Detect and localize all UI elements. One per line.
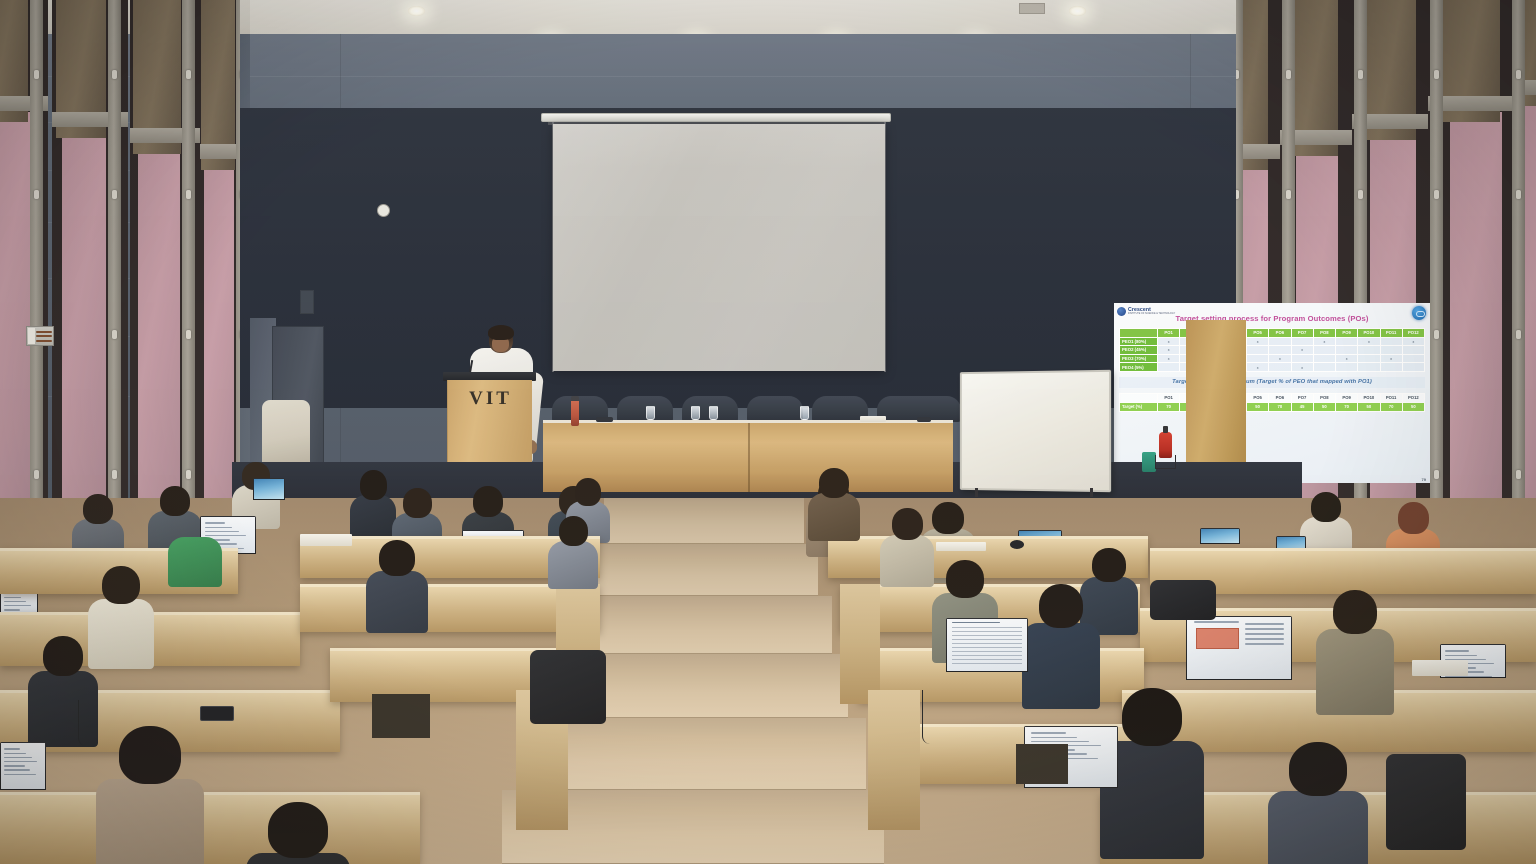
attendee-head xyxy=(403,488,432,518)
panel-fastener xyxy=(1434,470,1439,479)
screen-text-line xyxy=(4,601,27,603)
po-column-header: PO5 xyxy=(1247,329,1269,338)
attendee-head xyxy=(1039,584,1083,628)
whiteboard xyxy=(960,370,1111,492)
attendee-head xyxy=(892,508,923,540)
mapping-cell-marked xyxy=(1291,346,1313,355)
mapping-cell-empty xyxy=(1269,346,1291,355)
target-column-header: PO5 xyxy=(1247,393,1269,402)
screen-text-line xyxy=(1245,643,1284,645)
laptop-screen[interactable] xyxy=(947,619,1026,670)
attendee xyxy=(366,540,428,638)
target-column-header: PO11 xyxy=(1380,393,1402,402)
attendee-head xyxy=(268,802,328,858)
target-column-header: PO9 xyxy=(1336,393,1358,402)
target-row-label: Target (%) xyxy=(1120,402,1158,411)
mapping-cell-empty xyxy=(1247,354,1269,363)
thermos-flask xyxy=(571,399,579,426)
panel-fastener xyxy=(1434,70,1439,79)
target-value-cell: 70 xyxy=(1380,402,1402,411)
projector-screen-housing xyxy=(541,113,891,122)
peo-row: PEO2 (45%) xyxy=(1120,346,1425,355)
attendee-head xyxy=(1092,548,1126,582)
peo-row-label: PEO4 (5%) xyxy=(1120,363,1158,372)
po-column-header: PO12 xyxy=(1402,329,1424,338)
notebook xyxy=(300,534,352,546)
crescent-logo: Crescent INSTITUTE OF SCIENCE & TECHNOLO… xyxy=(1117,305,1169,318)
mapping-cell-empty xyxy=(1313,363,1335,372)
mapping-cell-empty xyxy=(1336,363,1358,372)
laptop-screen[interactable] xyxy=(1187,617,1290,678)
screen-title-line xyxy=(1194,621,1239,623)
mapping-cell-empty xyxy=(1380,363,1402,372)
target-corner-cell xyxy=(1120,393,1158,402)
screen-text-line xyxy=(4,609,21,611)
target-value-cell: 70 xyxy=(1336,402,1358,411)
mapping-cell-empty xyxy=(1402,363,1424,372)
slide-page-number: 79 xyxy=(1422,477,1426,482)
po-column-header: PO9 xyxy=(1336,329,1358,338)
panel-fastener xyxy=(112,70,117,79)
mapping-cell-empty xyxy=(1336,346,1358,355)
attendee-head xyxy=(43,636,83,676)
attendee-head xyxy=(1122,688,1182,746)
screen-text-line xyxy=(4,769,30,771)
panel-fastener xyxy=(1516,70,1521,79)
acoustic-panel-bay xyxy=(0,0,48,560)
thermos-cap xyxy=(571,396,579,401)
stage-chair xyxy=(617,396,673,422)
mapping-cell-marked xyxy=(1380,354,1402,363)
attendee-head xyxy=(819,468,849,498)
peo-row-label: PEO2 (45%) xyxy=(1120,346,1158,355)
wall-vent xyxy=(300,290,314,314)
panel-fastener xyxy=(112,330,117,339)
target-column-header: PO12 xyxy=(1402,393,1424,402)
target-value-cell: 50 xyxy=(1402,402,1424,411)
attendee-head xyxy=(83,494,113,524)
panel-fastener xyxy=(34,470,39,479)
panel-fastener xyxy=(34,70,39,79)
desk-shadow xyxy=(1016,744,1068,784)
attendee-head xyxy=(1289,742,1347,796)
screen-text-line xyxy=(4,605,31,607)
mapping-cell-marked xyxy=(1247,337,1269,346)
water-glass xyxy=(646,406,655,420)
screen-text-line xyxy=(4,765,25,767)
panel-fastener xyxy=(186,190,191,199)
attendee-torso xyxy=(548,541,598,589)
mapping-cell-empty xyxy=(1158,363,1180,372)
extinguisher-handle xyxy=(1163,426,1168,433)
attendee-head xyxy=(1311,492,1341,522)
po-column-header: PO8 xyxy=(1313,329,1335,338)
mapping-cell-marked xyxy=(1336,354,1358,363)
handbag xyxy=(1386,754,1466,850)
screen-text-line xyxy=(4,753,26,755)
peo-row: PEO4 (5%) xyxy=(1120,363,1425,372)
aisle-step xyxy=(604,498,804,544)
panel-fastener xyxy=(34,190,39,199)
attendee-torso xyxy=(1022,623,1100,709)
screen-highlight-box xyxy=(1196,628,1239,649)
peo-row-label: PEO3 (70%) xyxy=(1120,354,1158,363)
mapping-cell-marked xyxy=(1158,354,1180,363)
peo-row: PEO3 (70%) xyxy=(1120,354,1425,363)
target-value-cell: 50 xyxy=(1313,402,1335,411)
po-column-header: PO1 xyxy=(1158,329,1180,338)
panel-fastener xyxy=(1286,190,1291,199)
attendee-head xyxy=(180,510,211,542)
mapping-cell-marked xyxy=(1313,337,1335,346)
mapping-cell-marked xyxy=(1269,354,1291,363)
attendee-head xyxy=(946,560,984,598)
aisle-step xyxy=(532,718,866,790)
target-column-header: PO10 xyxy=(1358,393,1380,402)
attendee-head xyxy=(932,502,964,534)
target-column-header: PO1 xyxy=(1158,393,1180,402)
screen-text-line xyxy=(4,761,37,763)
mapping-cell-empty xyxy=(1358,354,1380,363)
mapping-cell-marked xyxy=(1402,337,1424,346)
panel-fastener xyxy=(112,470,117,479)
stage-chair xyxy=(747,396,803,422)
mapping-cell-empty xyxy=(1269,363,1291,372)
mapping-cell-empty xyxy=(1313,354,1335,363)
target-percentage-table: PO1PO2PO3PO4PO5PO6PO7PO8PO9PO10PO11PO12 … xyxy=(1119,393,1425,412)
attendee xyxy=(880,508,934,592)
screen-text-line xyxy=(4,748,20,750)
attendee-torso xyxy=(350,495,396,541)
lecture-hall-photo: Crescent INSTITUTE OF SCIENCE & TECHNOLO… xyxy=(0,0,1536,864)
screen-title-line xyxy=(952,622,1000,624)
mapping-cell-empty xyxy=(1336,337,1358,346)
mapping-cell-empty xyxy=(1380,346,1402,355)
attendee xyxy=(1268,742,1368,864)
mapping-cell-marked xyxy=(1291,363,1313,372)
attendee xyxy=(350,470,396,546)
attendee-head xyxy=(119,726,181,784)
screen-text-line xyxy=(1031,741,1089,743)
panel-fastener xyxy=(1236,70,1239,79)
laptop-screen[interactable] xyxy=(1,743,44,788)
screen-table-grid xyxy=(952,627,1022,667)
sign-pictogram xyxy=(28,328,35,344)
target-column-header: PO6 xyxy=(1269,393,1291,402)
po-column-header: PO10 xyxy=(1358,329,1380,338)
acoustic-panel-bay xyxy=(1512,0,1536,560)
attendee-head xyxy=(575,478,601,506)
attendee-torso xyxy=(1316,629,1394,715)
panel-fastener xyxy=(1434,190,1439,199)
laptop xyxy=(1200,528,1240,544)
projection-screen: Crescent INSTITUTE OF SCIENCE & TECHNOLO… xyxy=(553,124,885,371)
green-bin xyxy=(1142,452,1156,472)
attendee-head xyxy=(473,486,503,517)
laptop-screen[interactable] xyxy=(254,479,283,498)
ceiling-vent xyxy=(1019,3,1045,14)
screen-text-line xyxy=(1031,732,1066,734)
target-value-cell: 45 xyxy=(1291,402,1313,411)
peo-row: PEO1 (80%) xyxy=(1120,337,1425,346)
panel-fastener xyxy=(1286,70,1291,79)
po-column-header: PO7 xyxy=(1291,329,1313,338)
logo-subtitle: INSTITUTE OF SCIENCE & TECHNOLOGY xyxy=(1128,313,1175,316)
podium: VIT xyxy=(447,380,532,462)
presenter-hair xyxy=(488,325,514,340)
mapping-cell-marked xyxy=(1158,346,1180,355)
screen-text-line xyxy=(4,597,22,599)
attendee-head xyxy=(102,566,140,604)
ceiling-light xyxy=(408,6,425,16)
desk-end-panel xyxy=(868,690,920,830)
attendee xyxy=(96,726,204,864)
mapping-cell-empty xyxy=(1380,337,1402,346)
panel-fastener xyxy=(186,470,191,479)
laptop-cable xyxy=(922,690,940,744)
panel-fastener xyxy=(1516,470,1521,479)
table-object xyxy=(917,417,931,422)
wall-clock xyxy=(377,204,390,217)
acoustic-panel-bay xyxy=(130,0,202,560)
attendee-torso xyxy=(168,537,222,587)
notebook xyxy=(1412,660,1468,676)
acoustic-panel-bay xyxy=(1428,0,1514,560)
target-value-cell: 70 xyxy=(1158,402,1180,411)
attendee-torso xyxy=(96,779,204,864)
mapping-cell-empty xyxy=(1291,354,1313,363)
acoustic-panel-bay xyxy=(52,0,128,560)
panel-fastener xyxy=(1236,190,1239,199)
mapping-cell-marked xyxy=(1158,337,1180,346)
panel-fastener xyxy=(112,190,117,199)
mapping-cell-empty xyxy=(1291,337,1313,346)
attendee-head xyxy=(559,516,588,546)
screen-text-line xyxy=(1031,737,1078,739)
ceiling-light xyxy=(1069,6,1086,16)
target-value-cell: 50 xyxy=(1247,402,1269,411)
acoustic-wall-left xyxy=(0,0,240,560)
screen-text-line xyxy=(1245,623,1284,625)
screen-text-line xyxy=(1245,633,1284,635)
panel-fastener xyxy=(1434,330,1439,339)
mapping-cell-empty xyxy=(1269,337,1291,346)
laptop-cable xyxy=(78,700,94,746)
panel-fastener xyxy=(1358,190,1363,199)
attendee-torso xyxy=(1268,791,1368,864)
water-glass xyxy=(709,406,718,420)
acoustic-panel-pink xyxy=(1524,96,1536,560)
mapping-cell-marked xyxy=(1358,337,1380,346)
laptop xyxy=(1186,616,1292,680)
screen-text-line xyxy=(1445,655,1477,657)
mapping-cell-empty xyxy=(1358,346,1380,355)
mapping-cell-empty xyxy=(1313,346,1335,355)
aisle-step xyxy=(592,544,818,596)
panel-cross-band xyxy=(200,144,240,159)
screen-text-line xyxy=(4,774,36,776)
attendee xyxy=(548,516,598,594)
attendee xyxy=(1022,584,1100,714)
po-column-header: PO11 xyxy=(1380,329,1402,338)
nba-seal-icon xyxy=(1412,306,1426,320)
desk-shadow xyxy=(372,694,430,738)
desk-row xyxy=(0,792,420,864)
screen-text-line xyxy=(1445,650,1469,652)
attendee xyxy=(808,468,860,546)
screen-text-line xyxy=(1245,638,1284,640)
mapping-cell-marked xyxy=(1247,363,1269,372)
backpack xyxy=(530,650,606,724)
attendee-torso xyxy=(880,535,934,587)
screen-text-line xyxy=(1245,628,1284,630)
attendee xyxy=(246,802,350,864)
table-papers xyxy=(860,416,886,422)
attendee-head xyxy=(360,470,387,500)
laptop xyxy=(253,478,285,500)
po-column-header: PO6 xyxy=(1269,329,1291,338)
panel-fastener xyxy=(186,70,191,79)
mapping-cell-empty xyxy=(1402,354,1424,363)
panel-fastener xyxy=(1516,190,1521,199)
laptop xyxy=(946,618,1028,672)
water-glass xyxy=(691,406,700,420)
target-value-cell: 50 xyxy=(1358,402,1380,411)
target-rule-text: Target % for PO1 = Maximum (Target % of … xyxy=(1119,377,1425,388)
water-glass xyxy=(800,406,809,420)
aisle-step xyxy=(576,596,832,654)
target-column-header: PO7 xyxy=(1291,393,1313,402)
laptop xyxy=(0,742,46,790)
mapping-cell-empty xyxy=(1247,346,1269,355)
attendee xyxy=(168,510,222,592)
laptop-screen[interactable] xyxy=(1201,529,1238,542)
panel-fastener xyxy=(1516,330,1521,339)
table-object xyxy=(596,417,613,422)
peo-po-mapping-table: PO1PO2PO3PO4PO5PO6PO7PO8PO9PO10PO11PO12 … xyxy=(1119,328,1425,372)
acoustic-panel-pink xyxy=(1450,112,1502,560)
mapping-cell-empty xyxy=(1402,346,1424,355)
desk-end-panel xyxy=(840,584,880,704)
attendee-head xyxy=(379,540,415,576)
mapping-corner-cell xyxy=(1120,329,1158,338)
podium-brand-label: VIT xyxy=(448,388,533,410)
attendee-torso xyxy=(808,493,860,541)
crescent-emblem-icon xyxy=(1117,307,1126,316)
notebook xyxy=(936,542,986,551)
attendee-head xyxy=(1398,502,1429,534)
mouse[interactable] xyxy=(1010,540,1024,549)
target-column-header: PO8 xyxy=(1313,393,1335,402)
handbag xyxy=(1150,580,1216,620)
screen-text-line xyxy=(4,757,32,759)
mapping-cell-empty xyxy=(1358,363,1380,372)
stage-chair xyxy=(905,396,961,422)
attendee-head xyxy=(1333,590,1377,634)
mobile-phone[interactable] xyxy=(200,706,234,721)
peo-row-label: PEO1 (80%) xyxy=(1120,337,1158,346)
panel-fastener xyxy=(186,330,191,339)
target-value-cell: 70 xyxy=(1269,402,1291,411)
attendee xyxy=(1316,590,1394,720)
safety-sign-left xyxy=(26,326,54,346)
fire-extinguisher xyxy=(1159,432,1172,458)
plastic-chair xyxy=(262,400,310,468)
whiteboard-stand xyxy=(975,488,1093,497)
attendee-torso xyxy=(366,571,428,633)
panel-fastener xyxy=(1358,70,1363,79)
